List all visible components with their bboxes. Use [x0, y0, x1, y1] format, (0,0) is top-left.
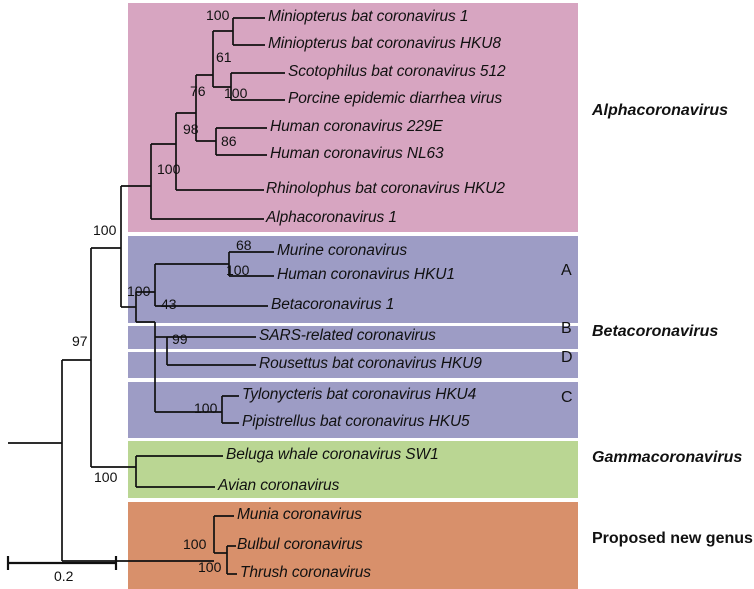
bootstrap-value: 100: [198, 559, 221, 575]
bootstrap-value: 86: [221, 133, 237, 149]
bootstrap-value: 100: [157, 161, 180, 177]
taxon-label: Avian coronavirus: [218, 477, 339, 495]
genus-label: Betacoronavirus: [592, 323, 718, 341]
genus-label: Gammacoronavirus: [592, 449, 742, 467]
taxon-label: Bulbul coronavirus: [237, 536, 363, 554]
bootstrap-value: 100: [226, 262, 249, 278]
bootstrap-value: 100: [183, 536, 206, 552]
taxon-label: Human coronavirus 229E: [270, 118, 443, 136]
taxon-label: SARS-related coronavirus: [259, 327, 436, 345]
taxon-label: Tylonycteris bat coronavirus HKU4: [242, 386, 476, 404]
bootstrap-value: 68: [236, 237, 252, 253]
phylogenetic-tree-figure: Miniopterus bat coronavirus 1Miniopterus…: [0, 0, 754, 589]
bootstrap-value: 99: [172, 331, 188, 347]
bootstrap-value: 98: [183, 121, 199, 137]
bootstrap-value: 100: [94, 469, 117, 485]
taxon-label: Betacoronavirus 1: [271, 296, 394, 314]
taxon-label: Human coronavirus HKU1: [277, 266, 455, 284]
taxon-label: Alphacoronavirus 1: [266, 209, 397, 227]
taxon-label: Thrush coronavirus: [240, 564, 371, 582]
bootstrap-value: 100: [127, 283, 150, 299]
bootstrap-value: 100: [93, 222, 116, 238]
lineage-label-d: D: [561, 349, 573, 367]
scale-bar-label: 0.2: [54, 568, 73, 584]
lineage-label-a: A: [561, 262, 572, 280]
taxon-label: Beluga whale coronavirus SW1: [226, 446, 439, 464]
taxon-label: Miniopterus bat coronavirus 1: [268, 8, 468, 26]
bootstrap-value: 61: [216, 49, 232, 65]
bootstrap-value: 100: [224, 85, 247, 101]
bootstrap-value: 76: [190, 83, 206, 99]
genus-label: Alphacoronavirus: [592, 102, 728, 120]
tree-branches: [0, 0, 754, 589]
taxon-label: Murine coronavirus: [277, 242, 407, 260]
bootstrap-value: 100: [194, 400, 217, 416]
bootstrap-value: 43: [161, 296, 177, 312]
taxon-label: Pipistrellus bat coronavirus HKU5: [242, 413, 470, 431]
taxon-label: Rousettus bat coronavirus HKU9: [259, 355, 482, 373]
bootstrap-value: 97: [72, 333, 88, 349]
bootstrap-value: 100: [206, 7, 229, 23]
taxon-label: Scotophilus bat coronavirus 512: [288, 63, 505, 81]
lineage-label-b: B: [561, 320, 572, 338]
taxon-label: Human coronavirus NL63: [270, 145, 444, 163]
taxon-label: Munia coronavirus: [237, 506, 362, 524]
lineage-label-c: C: [561, 389, 573, 407]
taxon-label: Miniopterus bat coronavirus HKU8: [268, 35, 501, 53]
taxon-label: Rhinolophus bat coronavirus HKU2: [266, 180, 505, 198]
taxon-label: Porcine epidemic diarrhea virus: [288, 90, 502, 108]
genus-label: Proposed new genus: [592, 530, 753, 548]
